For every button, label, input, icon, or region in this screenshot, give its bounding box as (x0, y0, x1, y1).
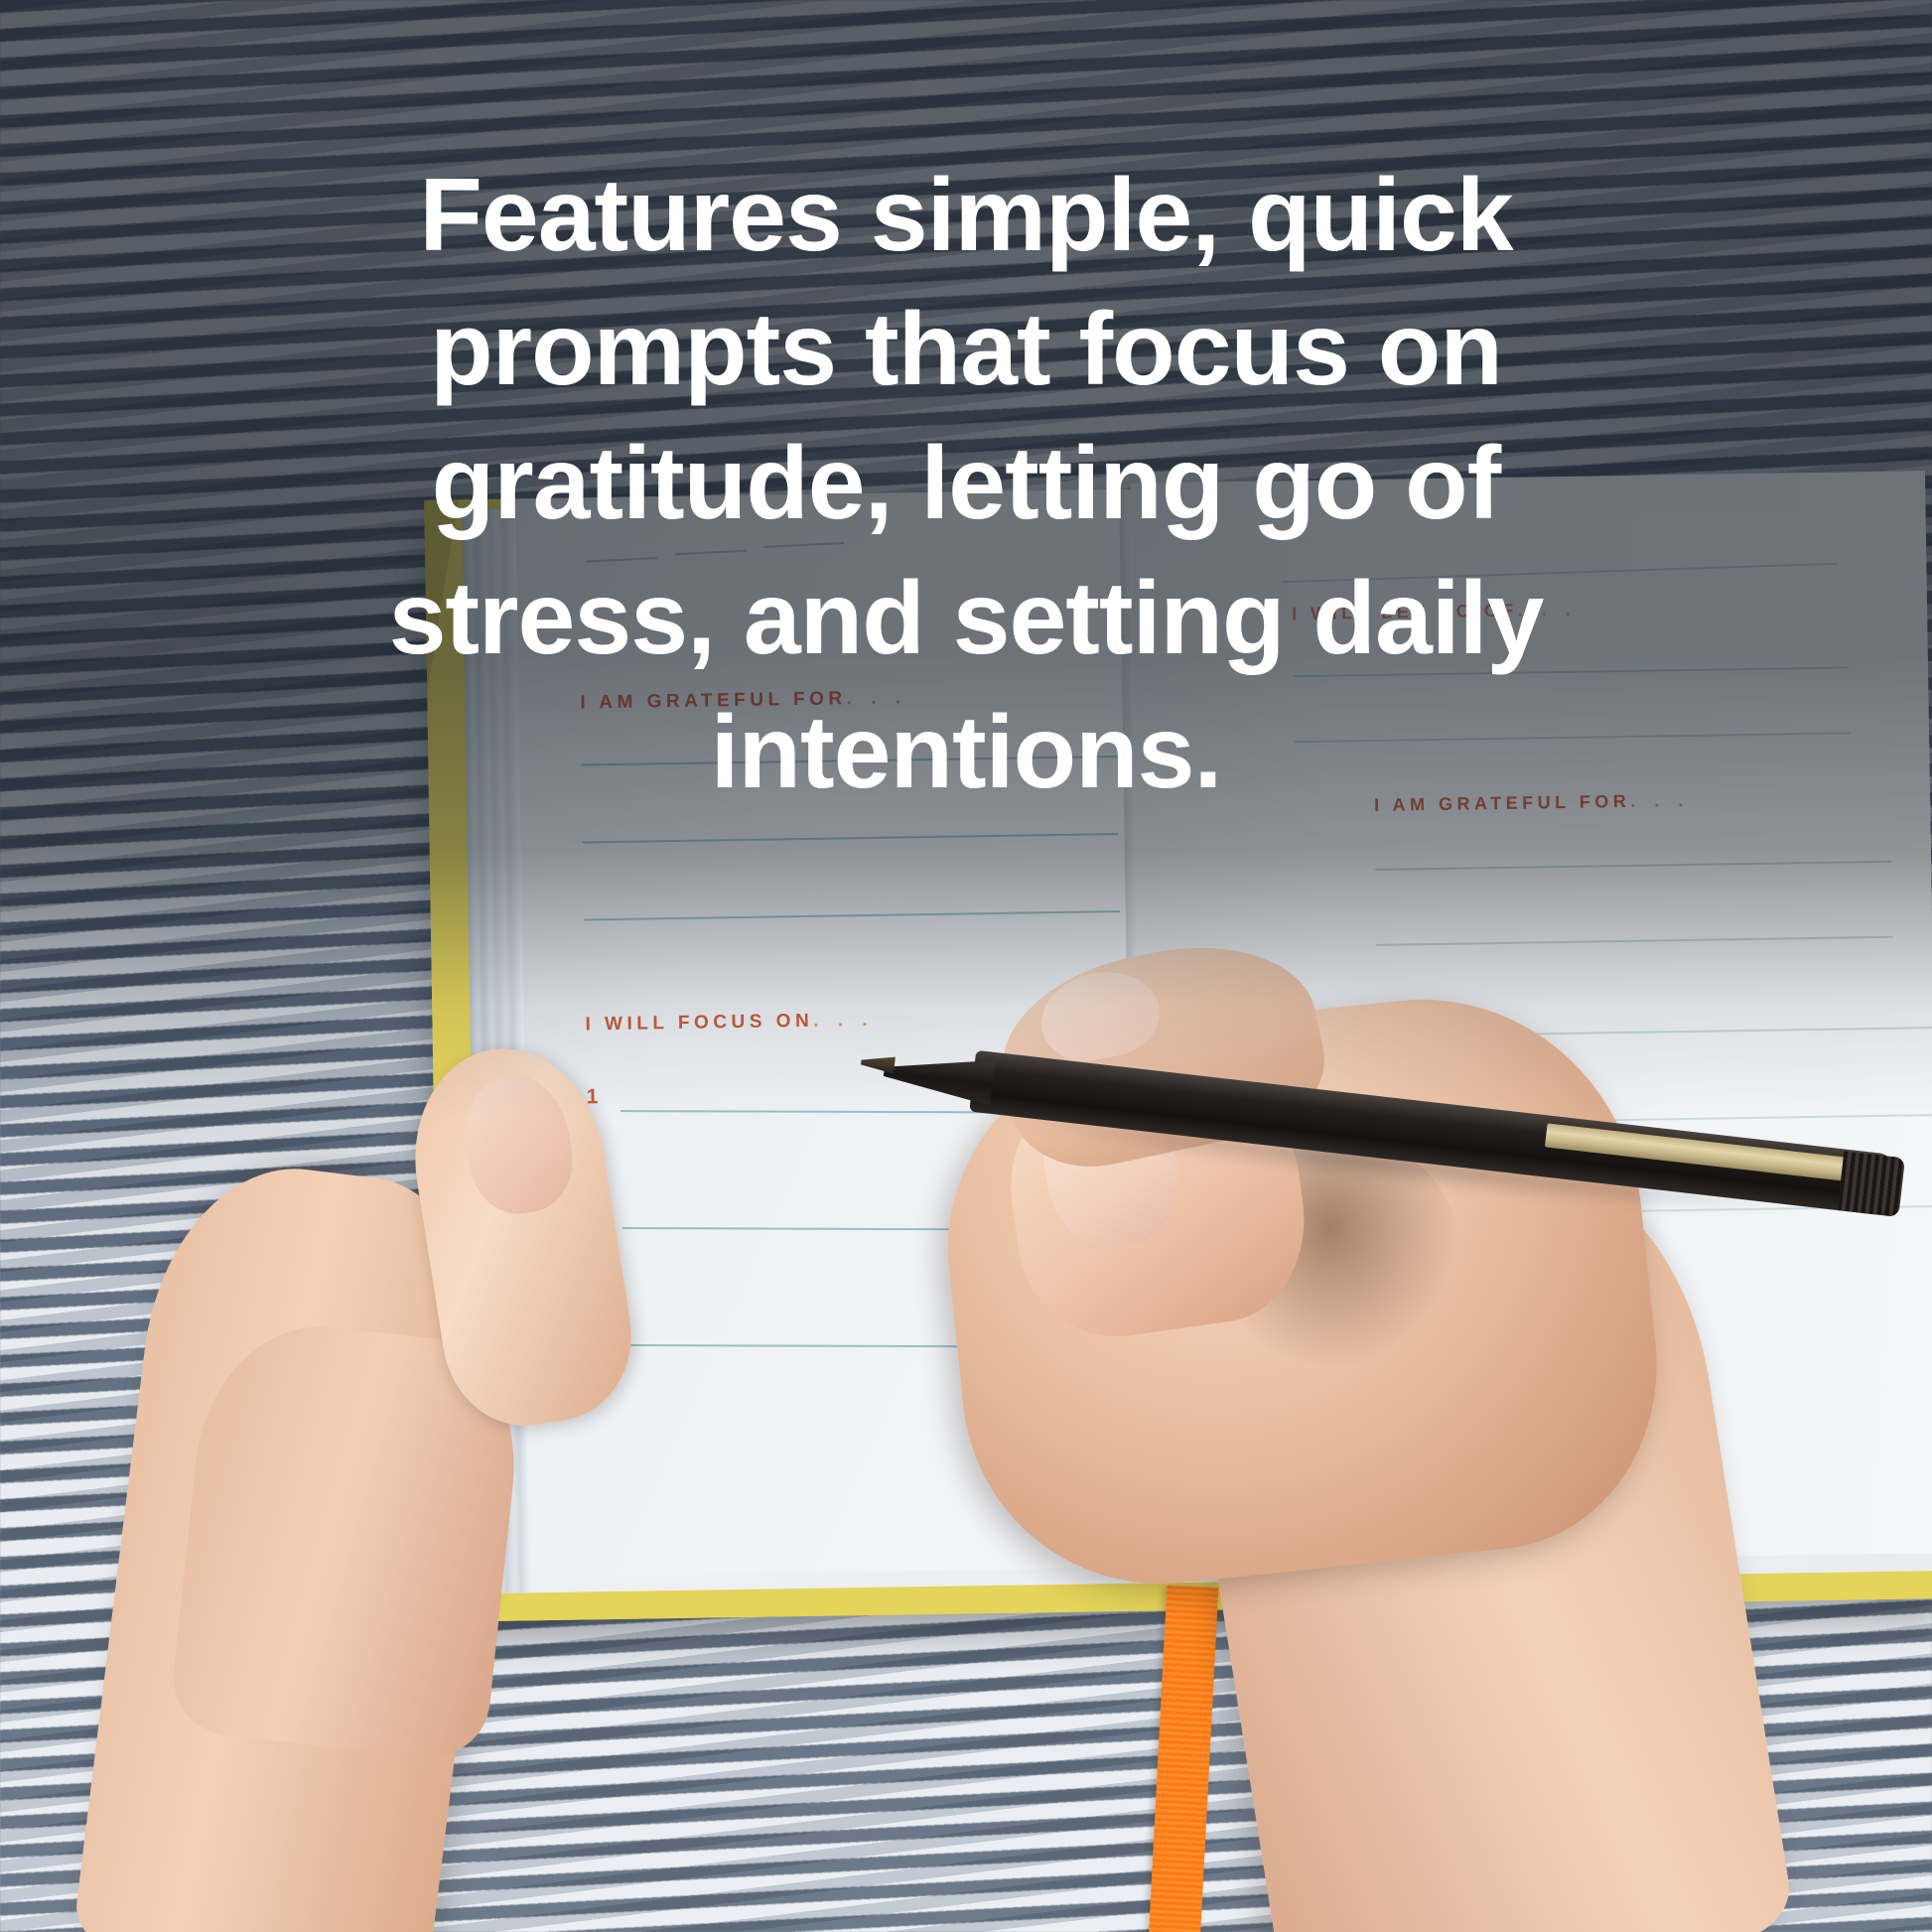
right-grateful-rule-1 (1375, 861, 1891, 871)
prompt-label-text: I WILL FOCUS ON (585, 1011, 813, 1035)
photo-canvas: I AM GRATEFUL FOR. . . I WILL FOCUS ON. … (0, 0, 1932, 1932)
headline-line-3: gratitude, letting go of (129, 417, 1803, 551)
grateful-rule-2 (583, 833, 1119, 843)
headline-text: Features simple, quick prompts that focu… (0, 149, 1932, 820)
headline-line-1: Features simple, quick (129, 149, 1803, 283)
headline-line-2: prompts that focus on (129, 283, 1803, 417)
pen-end-cap (1838, 1151, 1905, 1217)
grateful-rule-3 (584, 910, 1120, 920)
headline-line-5: intentions. (129, 686, 1803, 820)
pen-tip (860, 1053, 896, 1074)
headline-line-4: stress, and setting daily (129, 552, 1803, 686)
right-grateful-rule-2 (1376, 936, 1892, 946)
left-page-prompt-focus: I WILL FOCUS ON. . . (585, 1010, 874, 1036)
